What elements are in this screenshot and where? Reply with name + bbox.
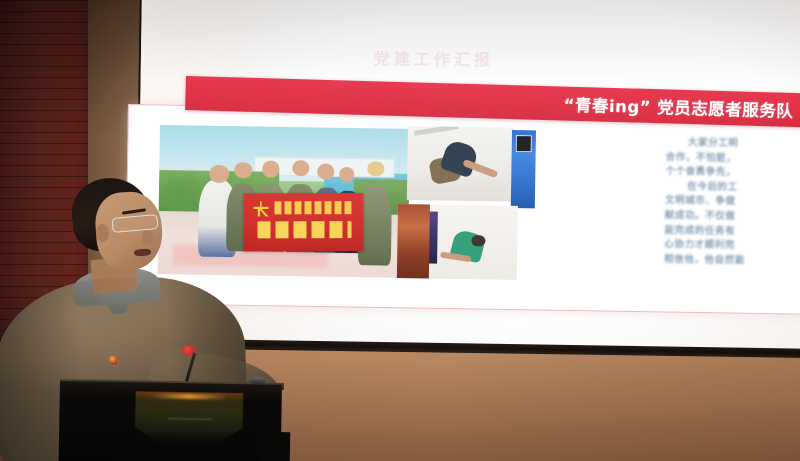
body-line-3: 个个奋勇争先， bbox=[665, 165, 800, 182]
presentation-scene: 党建工作汇报 bbox=[0, 0, 800, 461]
photo-person-5-head bbox=[317, 163, 335, 180]
slide-body-text: 大家分工明 合作，不怕脏， 个个奋勇争先， 在今后的工 文明城市、争做 献成功。… bbox=[664, 136, 800, 270]
slide-photo-wood-panel bbox=[397, 204, 430, 278]
slide-faded-header: 党建工作汇报 bbox=[374, 45, 494, 70]
photo-banner-line-2 bbox=[258, 221, 352, 239]
podium-knob bbox=[249, 377, 266, 384]
party-badge-pin-icon bbox=[109, 356, 117, 366]
presenter-nose bbox=[142, 230, 153, 244]
podium-base-step bbox=[258, 432, 291, 461]
body-line-9: 相信他，他自然能 bbox=[664, 253, 800, 270]
slide-photo-kiosk bbox=[511, 130, 536, 208]
photo-person-6-head bbox=[339, 167, 354, 182]
photo-person-7-head bbox=[367, 161, 385, 176]
slide-photo-indoor-a bbox=[407, 126, 514, 202]
photo-ladder bbox=[414, 126, 459, 137]
kiosk-screen bbox=[516, 135, 532, 152]
microphone-icon bbox=[182, 346, 195, 355]
slide-title-text: “青春ing” 党员志愿者服务队 bbox=[563, 92, 800, 123]
photo-banner-line-1 bbox=[275, 201, 352, 214]
presenter-ear bbox=[96, 224, 109, 242]
photo-worker-b-head bbox=[472, 235, 485, 247]
